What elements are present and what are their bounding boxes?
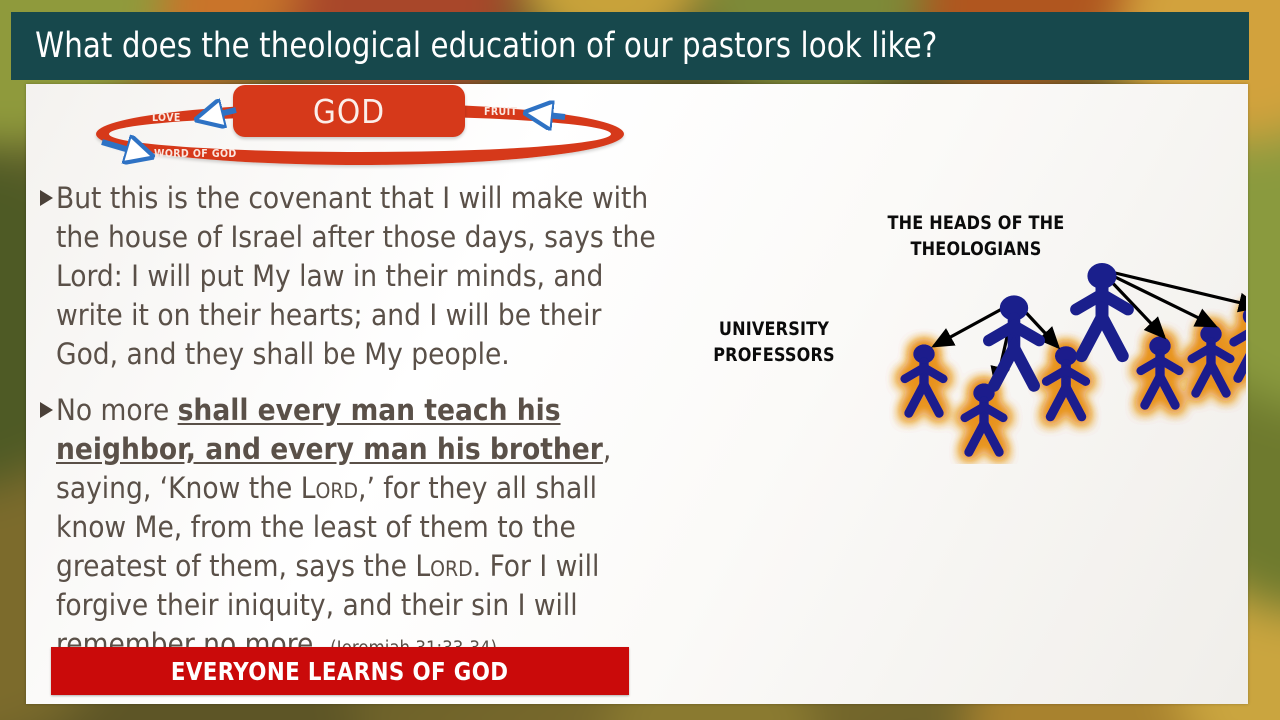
god-cycle-diagram: GOD LOVE FRUIT WORD OF GOD <box>72 86 632 176</box>
everyone-learns-banner: EVERYONE LEARNS OF GOD <box>51 647 629 695</box>
right-arrow-icon <box>102 142 150 156</box>
slide-title-bar: What does the theological education of o… <box>11 12 1249 80</box>
slide-content-panel: GOD LOVE FRUIT WORD OF GOD <box>26 84 1248 704</box>
professor-figure <box>905 344 943 413</box>
professor-figure <box>1141 336 1179 405</box>
theologians-professors-diagram: THE HEADS OF THETHEOLOGIANS UNIVERSITYPR… <box>666 104 1246 464</box>
professor-figures <box>905 306 1246 452</box>
triangle-bullet-icon <box>40 402 53 418</box>
left-arrow-icon <box>199 110 236 119</box>
banner-label: EVERYONE LEARNS OF GOD <box>171 657 509 686</box>
bullet-segment-smallcaps: Lord <box>301 471 358 505</box>
stick-figure-graphic <box>666 104 1246 464</box>
professor-figure <box>965 383 1003 452</box>
professor-figure <box>1234 306 1246 378</box>
bullet-text: But this is the covenant that I will mak… <box>56 179 668 374</box>
theologian-figures <box>989 263 1128 386</box>
bullet-segment-smallcaps: Lord <box>415 549 472 583</box>
slide-stage: What does the theological education of o… <box>0 0 1280 720</box>
left-arrow-icon <box>528 113 565 117</box>
bullet-text: No more shall every man teach his neighb… <box>56 391 668 668</box>
bullet-segment: But this is the covenant that I will mak… <box>56 181 656 371</box>
list-item: But this is the covenant that I will mak… <box>40 179 668 374</box>
page-title: What does the theological education of o… <box>11 26 937 66</box>
theologian-figure <box>1076 263 1128 356</box>
triangle-bullet-icon <box>40 190 53 206</box>
god-diagram-arrows <box>72 86 632 176</box>
bullet-segment: No more <box>56 393 178 427</box>
list-item: No more shall every man teach his neighb… <box>40 391 668 668</box>
scripture-body: But this is the covenant that I will mak… <box>40 179 668 685</box>
theologian-figure <box>989 295 1039 385</box>
professor-figure <box>1192 324 1230 393</box>
